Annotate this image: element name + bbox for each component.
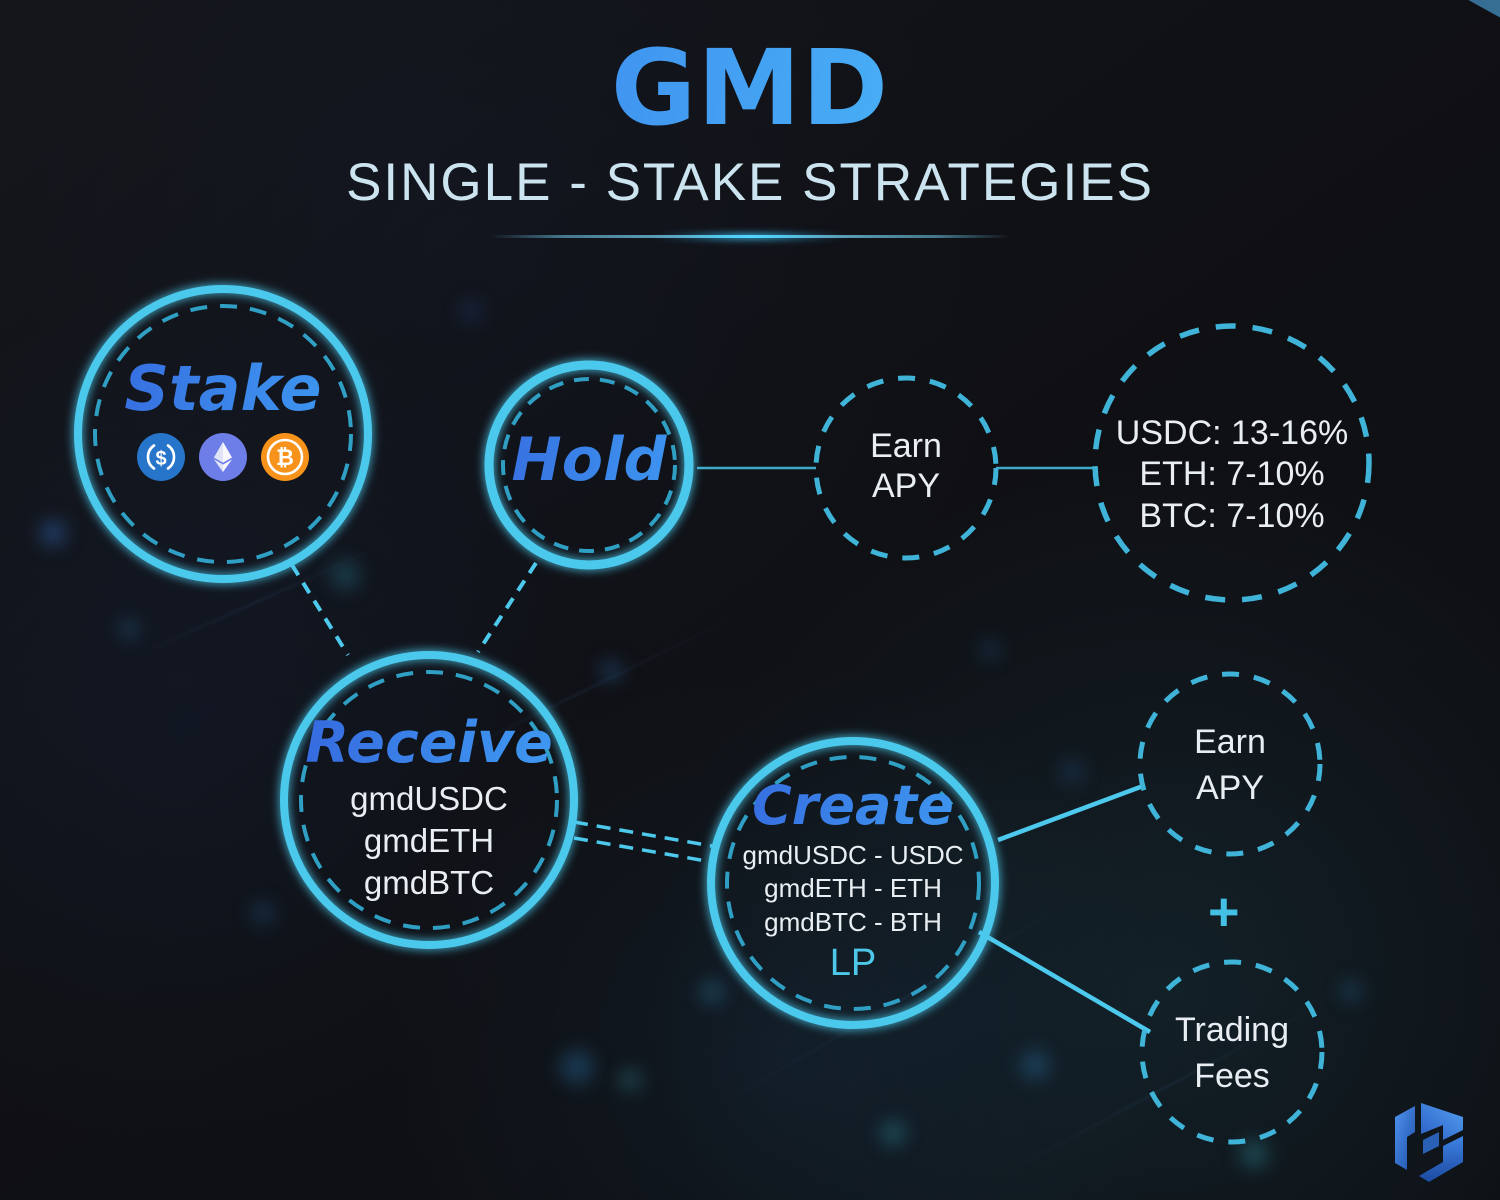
- connector-stake-to-receive: [292, 565, 348, 655]
- gmd-hexagon-logo[interactable]: [1383, 1090, 1475, 1188]
- plus-icon: +: [1208, 885, 1240, 939]
- node-receive[interactable]: Receive gmdUSDC gmdETH gmdBTC: [279, 714, 579, 904]
- node-earn-apy-bottom[interactable]: Earn APY: [1130, 720, 1330, 812]
- eth-coin-icon: [199, 433, 247, 481]
- receive-title: Receive: [279, 714, 579, 774]
- hold-title: Hold: [459, 425, 719, 495]
- node-create[interactable]: Create gmdUSDC - USDC gmdETH - ETH gmdBT…: [703, 778, 1003, 986]
- usdc-coin-icon: $: [137, 433, 185, 481]
- node-earn-apy-top[interactable]: Earn APY: [806, 426, 1006, 506]
- earn-apy-top-line-1: Earn: [806, 426, 1006, 466]
- create-line-1: gmdUSDC - USDC: [703, 839, 1003, 873]
- connector-create-to-trading-fees: [979, 932, 1150, 1032]
- node-rates[interactable]: USDC: 13-16% ETH: 7-10% BTC: 7-10%: [1082, 413, 1382, 537]
- infographic-canvas: GMD SINGLE - STAKE STRATEGIES: [0, 0, 1500, 1200]
- svg-text:$: $: [155, 448, 166, 470]
- trading-fees-line-1: Trading: [1132, 1008, 1332, 1054]
- node-trading-fees[interactable]: Trading Fees: [1132, 1008, 1332, 1100]
- trading-fees-line-2: Fees: [1132, 1054, 1332, 1100]
- earn-apy-top-line-2: APY: [806, 466, 1006, 506]
- receive-line-2: gmdETH: [279, 820, 579, 862]
- btc-coin-icon: ₿: [261, 433, 309, 481]
- connector-receive-to-create-a: [574, 822, 712, 846]
- create-lp-label: LP: [703, 942, 1003, 986]
- connector-create-to-earn-apy: [998, 786, 1143, 840]
- create-title: Create: [703, 778, 1003, 835]
- node-hold[interactable]: Hold: [459, 425, 719, 495]
- receive-line-1: gmdUSDC: [279, 778, 579, 820]
- rates-line-usdc: USDC: 13-16%: [1082, 413, 1382, 454]
- rates-line-btc: BTC: 7-10%: [1082, 496, 1382, 537]
- receive-line-3: gmdBTC: [279, 862, 579, 904]
- earn-apy-bottom-line-2: APY: [1130, 766, 1330, 812]
- stake-title: Stake: [73, 352, 373, 425]
- node-stake[interactable]: Stake $ ₿: [73, 352, 373, 481]
- rates-line-eth: ETH: 7-10%: [1082, 454, 1382, 495]
- svg-text:₿: ₿: [276, 446, 294, 471]
- earn-apy-bottom-line-1: Earn: [1130, 720, 1330, 766]
- connector-hold-to-receive: [478, 563, 536, 652]
- create-line-2: gmdETH - ETH: [703, 872, 1003, 906]
- create-line-3: gmdBTC - BTH: [703, 906, 1003, 940]
- stake-coin-list: $ ₿: [73, 433, 373, 481]
